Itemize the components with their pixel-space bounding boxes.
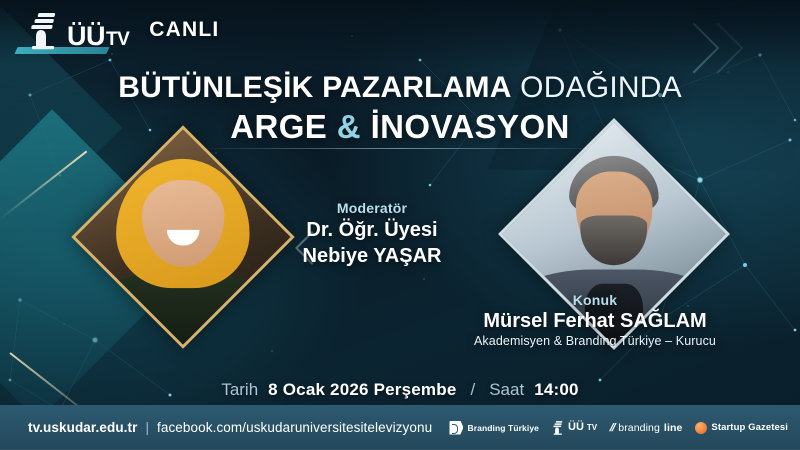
moderator-info: Moderatör Dr. Öğr. Üyesi Nebiye YAŞAR — [272, 200, 472, 268]
sponsor-uutv-uu: ÜÜ — [568, 422, 584, 433]
facebook-link[interactable]: facebook.com/uskudaruniversitesitelevizy… — [157, 420, 432, 435]
time-label: Saat — [489, 380, 524, 400]
sponsor-uutv[interactable]: ÜÜ TV — [552, 420, 597, 435]
guest-name: Mürsel Ferhat SAĞLAM — [430, 310, 760, 333]
guest-role-label: Konuk — [430, 292, 760, 308]
footer-separator: | — [145, 420, 149, 435]
date-value: 8 Ocak 2026 Perşembe — [268, 380, 456, 400]
title-line-1: BÜTÜNLEŞİK PAZARLAMA ODAĞINDA — [0, 72, 800, 104]
tower-icon — [28, 10, 62, 50]
logo-text-uu: ÜÜ — [67, 23, 105, 50]
startup-gazetesi-icon — [695, 422, 707, 434]
title-divider-line — [190, 148, 610, 149]
sponsor-label: Branding Türkiye — [467, 423, 539, 433]
title-arge: ARGE — [230, 108, 327, 145]
footer-bar: tv.uskudar.edu.tr | facebook.com/uskudar… — [0, 405, 800, 450]
broadcast-promo-graphic: ÜÜ TV CANLI BÜTÜNLEŞİK PAZARLAMA ODAĞIND… — [0, 0, 800, 450]
moderator-role-label: Moderatör — [272, 200, 472, 216]
time-value: 14:00 — [534, 380, 578, 400]
sponsor-label-bold: line — [664, 422, 683, 434]
sponsor-uutv-tv: TV — [587, 424, 597, 432]
title-ampersand: & — [337, 108, 361, 145]
sponsor-branding-turkiye[interactable]: Branding Türkiye — [449, 421, 539, 435]
sponsor-label-light: branding — [618, 422, 660, 434]
sponsor-logos: Branding Türkiye ÜÜ TV // branding line — [449, 420, 800, 435]
title-line-2: ARGE & İNOVASYON — [0, 108, 800, 146]
sponsor-branding-line[interactable]: // branding line — [610, 422, 682, 434]
sponsor-label: Startup Gazetesi — [711, 422, 788, 433]
website-link[interactable]: tv.uskudar.edu.tr — [28, 420, 137, 435]
uutv-logo[interactable]: ÜÜ TV — [28, 10, 129, 50]
guest-info: Konuk Mürsel Ferhat SAĞLAM Akademisyen &… — [430, 292, 760, 348]
title-strong: BÜTÜNLEŞİK PAZARLAMA — [118, 71, 511, 104]
schedule-row: Tarih 8 Ocak 2026 Perşembe / Saat 14:00 — [0, 380, 800, 400]
logo-text-tv: TV — [106, 30, 129, 49]
program-title-block: BÜTÜNLEŞİK PAZARLAMA ODAĞINDA ARGE & İNO… — [0, 72, 800, 146]
branding-line-chevron-icon: // — [608, 422, 616, 434]
moderator-name-line-2: Nebiye YAŞAR — [272, 245, 472, 268]
sponsor-startup-gazetesi[interactable]: Startup Gazetesi — [695, 422, 788, 434]
guest-subtitle: Akademisyen & Branding Türkiye – Kurucu — [430, 334, 760, 348]
live-badge: CANLI — [149, 18, 219, 42]
schedule-separator: / — [466, 380, 479, 400]
tower-icon-small — [552, 420, 565, 435]
title-light: ODAĞINDA — [520, 71, 682, 104]
title-inovasyon: İNOVASYON — [371, 108, 570, 145]
channel-brand-row: ÜÜ TV CANLI — [28, 10, 219, 50]
date-label: Tarih — [221, 380, 258, 400]
moderator-name-line-1: Dr. Öğr. Üyesi — [272, 219, 472, 242]
footer-links: tv.uskudar.edu.tr | facebook.com/uskudar… — [0, 420, 432, 435]
branding-turkiye-icon — [449, 421, 463, 435]
